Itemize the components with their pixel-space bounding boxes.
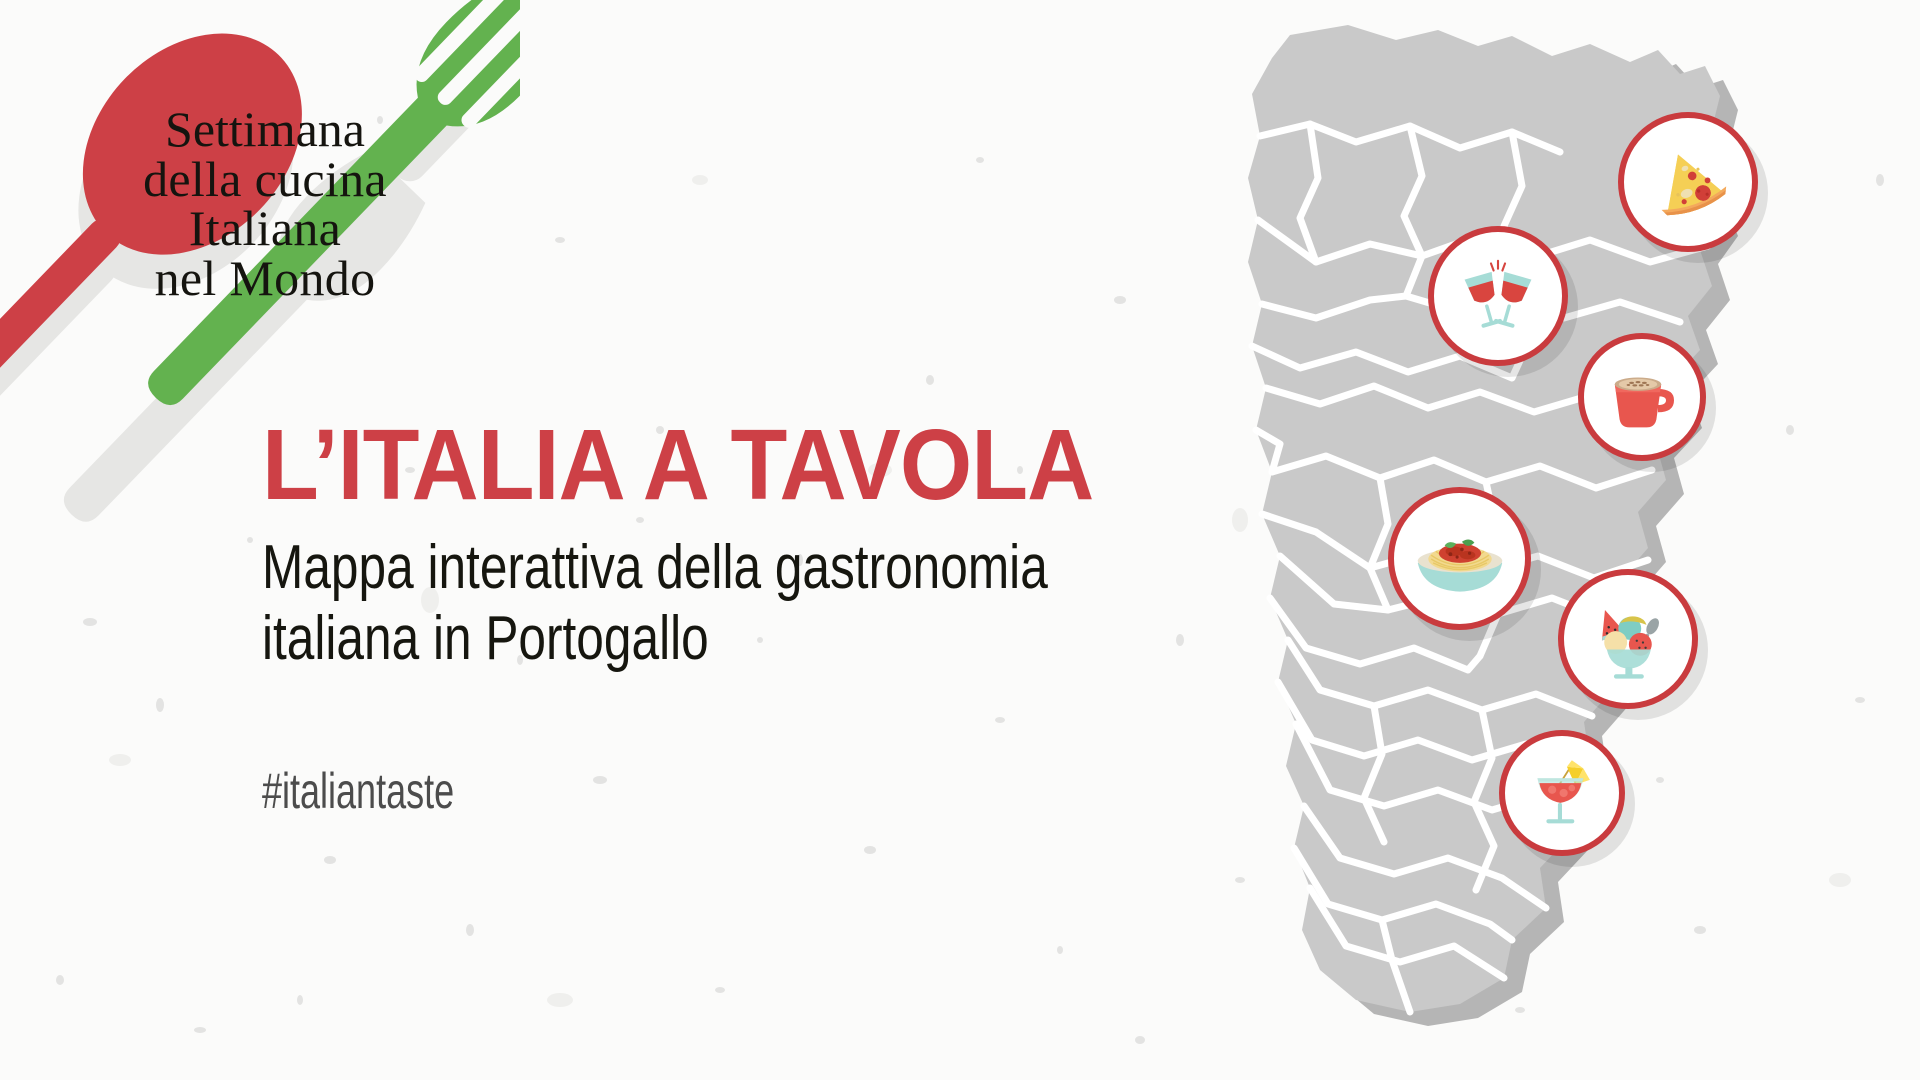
page-subtitle: Mappa interattiva della gastronomia ital… (262, 533, 950, 674)
event-logo-text: Settimana della cucina Italiana nel Mond… (55, 105, 475, 303)
map-marker-cocktail[interactable] (1499, 730, 1625, 856)
logo-line-2: della cucina (55, 155, 475, 205)
gelato-cup-icon (1584, 595, 1672, 683)
map-marker-pasta[interactable] (1388, 487, 1531, 630)
subtitle-line-1: Mappa interattiva della gastronomia (262, 533, 950, 604)
portugal-map[interactable] (1160, 0, 1920, 1080)
pizza-slice-icon (1645, 139, 1731, 225)
page-title: L’ITALIA A TAVOLA (262, 415, 1062, 515)
map-marker-wine[interactable] (1428, 226, 1568, 366)
cocktail-glass-icon (1521, 752, 1603, 834)
coffee-cup-icon (1602, 357, 1682, 437)
portugal-map-svg (1160, 0, 1920, 1080)
map-marker-coffee[interactable] (1578, 333, 1706, 461)
wine-glasses-icon (1454, 252, 1542, 340)
logo-line-1: Settimana (55, 105, 475, 155)
subtitle-line-2: italiana in Portogallo (262, 604, 950, 675)
headline-block: L’ITALIA A TAVOLA Mappa interattiva dell… (262, 415, 1122, 820)
logo-line-3: Italiana (55, 204, 475, 254)
hashtag: #italiantaste (262, 762, 881, 820)
map-marker-gelato[interactable] (1558, 569, 1698, 709)
pasta-bowl-icon (1412, 511, 1508, 607)
map-marker-pizza[interactable] (1618, 112, 1758, 252)
logo-line-4: nel Mondo (55, 254, 475, 304)
